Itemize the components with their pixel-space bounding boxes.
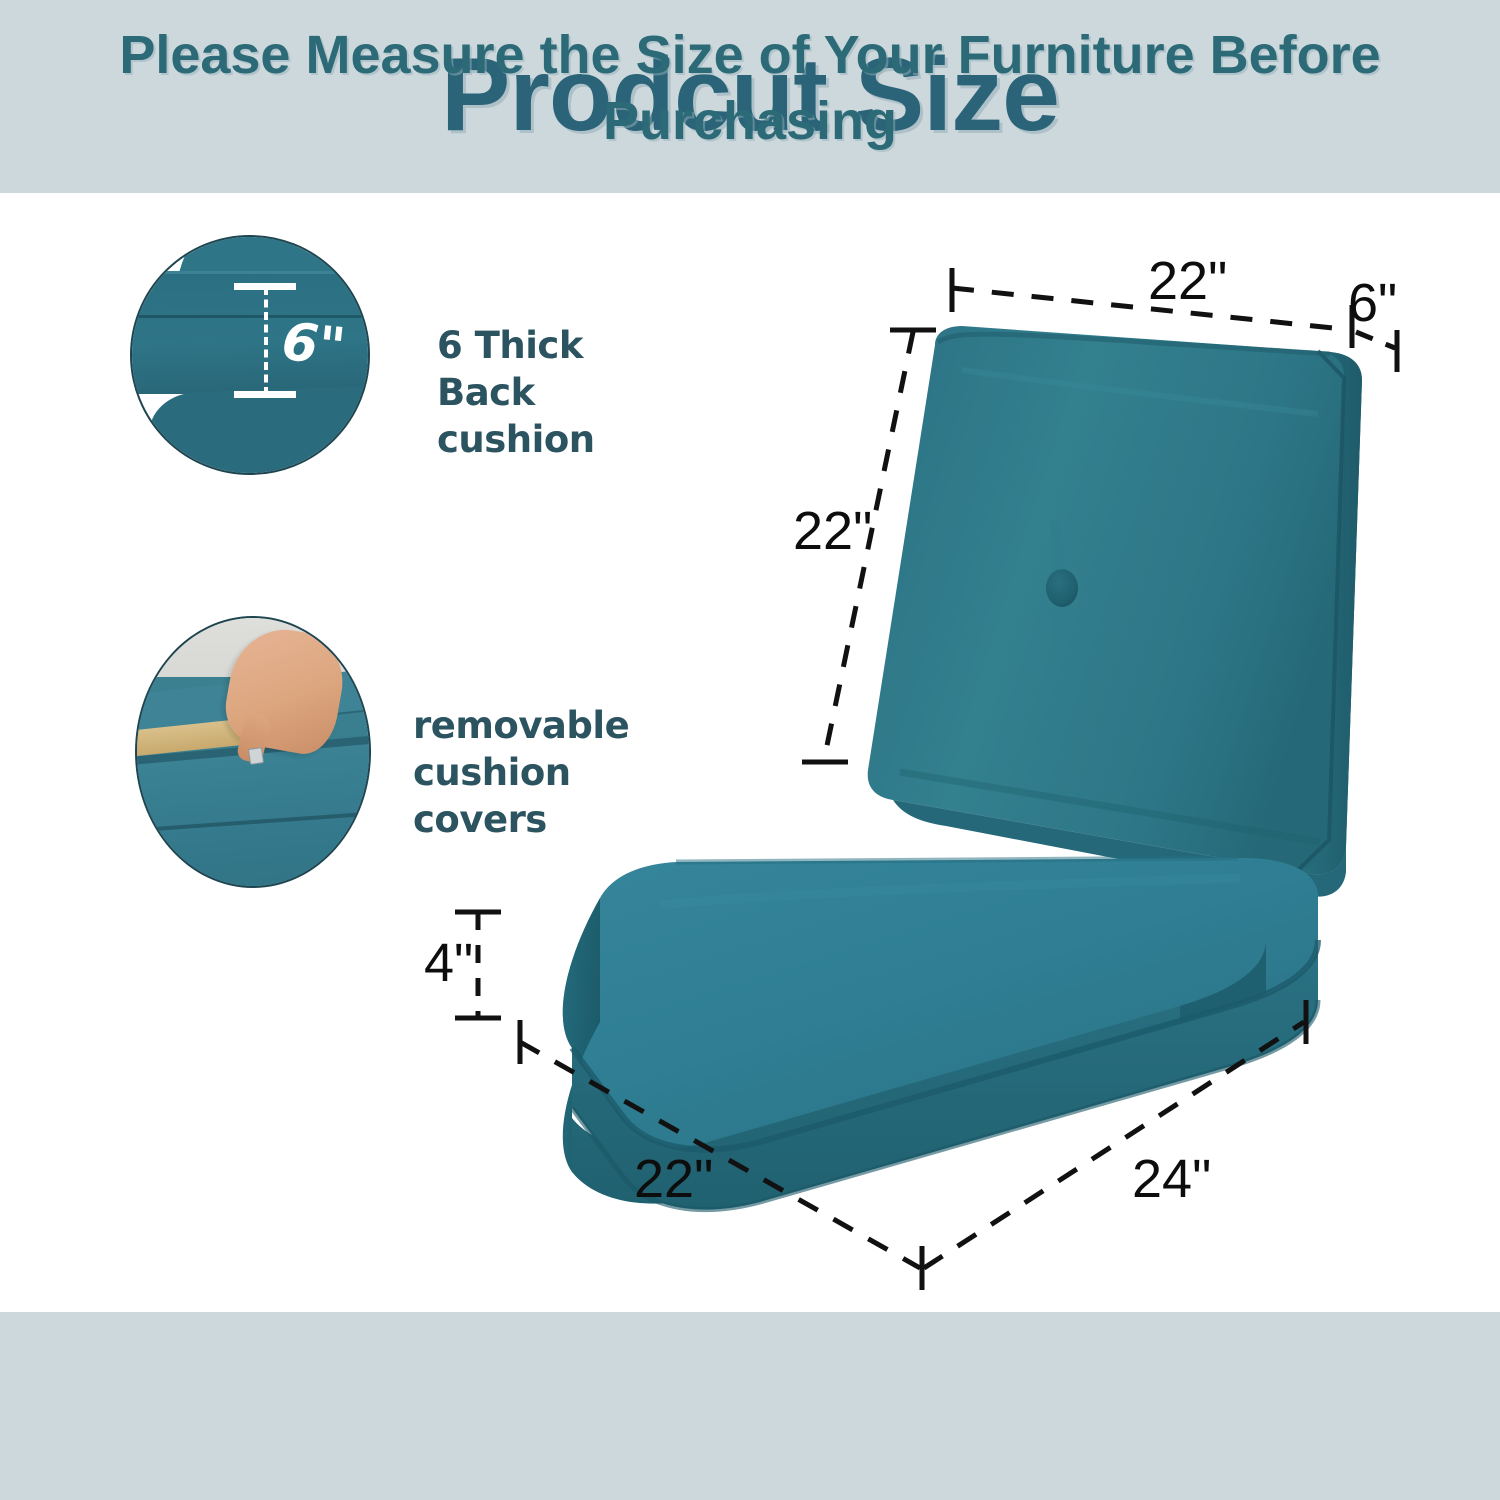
tufting-button-icon: [1046, 569, 1078, 607]
dim-label-seat-width: 22": [634, 1148, 713, 1210]
chair-cushion-illustration: [0, 0, 1500, 1500]
dim-label-top-depth: 6": [1348, 272, 1397, 334]
footer-message: Please Measure the Size of Your Furnitur…: [60, 22, 1440, 154]
tuft-pucker-up: [1055, 520, 1058, 570]
dim-label-seat-thickness: 4": [424, 932, 473, 994]
dim-label-top-width: 22": [1148, 250, 1227, 312]
footer-band: [0, 1312, 1500, 1500]
product-size-infographic: Prodcut Size 6" 6 Thick Back cushion: [0, 0, 1500, 1500]
dim-label-back-height: 22": [793, 500, 872, 562]
dim-line-top-depth: [1356, 332, 1395, 348]
dim-label-seat-depth: 24": [1132, 1148, 1211, 1210]
